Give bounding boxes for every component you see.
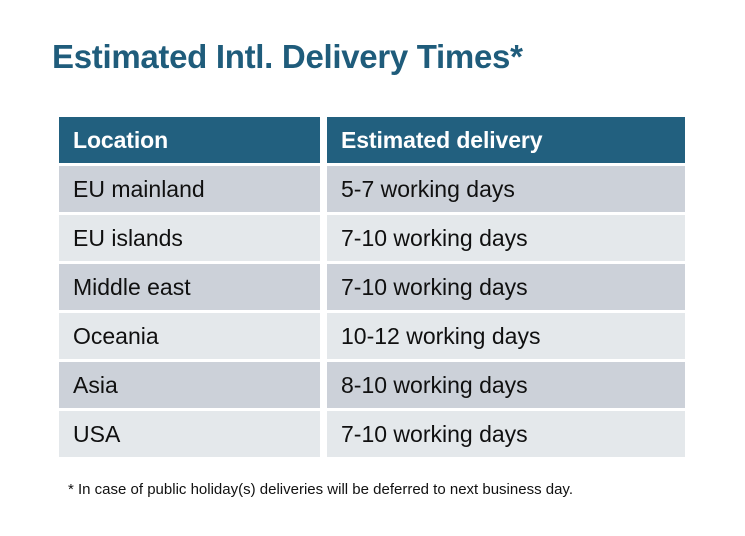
cell-location: Asia — [59, 362, 320, 408]
cell-delivery: 7-10 working days — [327, 264, 685, 310]
table-header-row: Location Estimated delivery — [59, 117, 685, 163]
table-body: EU mainland 5-7 working days EU islands … — [59, 166, 685, 457]
column-header-location: Location — [59, 117, 320, 163]
cell-delivery: 5-7 working days — [327, 166, 685, 212]
delivery-times-table: Location Estimated delivery EU mainland … — [52, 114, 692, 460]
table-row: Oceania 10-12 working days — [59, 313, 685, 359]
cell-delivery: 10-12 working days — [327, 313, 685, 359]
column-header-estimated-delivery: Estimated delivery — [327, 117, 685, 163]
cell-location: Middle east — [59, 264, 320, 310]
cell-location: Oceania — [59, 313, 320, 359]
cell-location: EU islands — [59, 215, 320, 261]
cell-location: EU mainland — [59, 166, 320, 212]
table-row: Asia 8-10 working days — [59, 362, 685, 408]
cell-delivery: 7-10 working days — [327, 411, 685, 457]
cell-delivery: 7-10 working days — [327, 215, 685, 261]
table-row: Middle east 7-10 working days — [59, 264, 685, 310]
table-row: USA 7-10 working days — [59, 411, 685, 457]
table-row: EU islands 7-10 working days — [59, 215, 685, 261]
footnote: * In case of public holiday(s) deliverie… — [68, 481, 573, 498]
delivery-times-page: Estimated Intl. Delivery Times* Location… — [0, 0, 745, 536]
table-row: EU mainland 5-7 working days — [59, 166, 685, 212]
table-header: Location Estimated delivery — [59, 117, 685, 163]
page-title: Estimated Intl. Delivery Times* — [52, 38, 523, 76]
cell-location: USA — [59, 411, 320, 457]
cell-delivery: 8-10 working days — [327, 362, 685, 408]
